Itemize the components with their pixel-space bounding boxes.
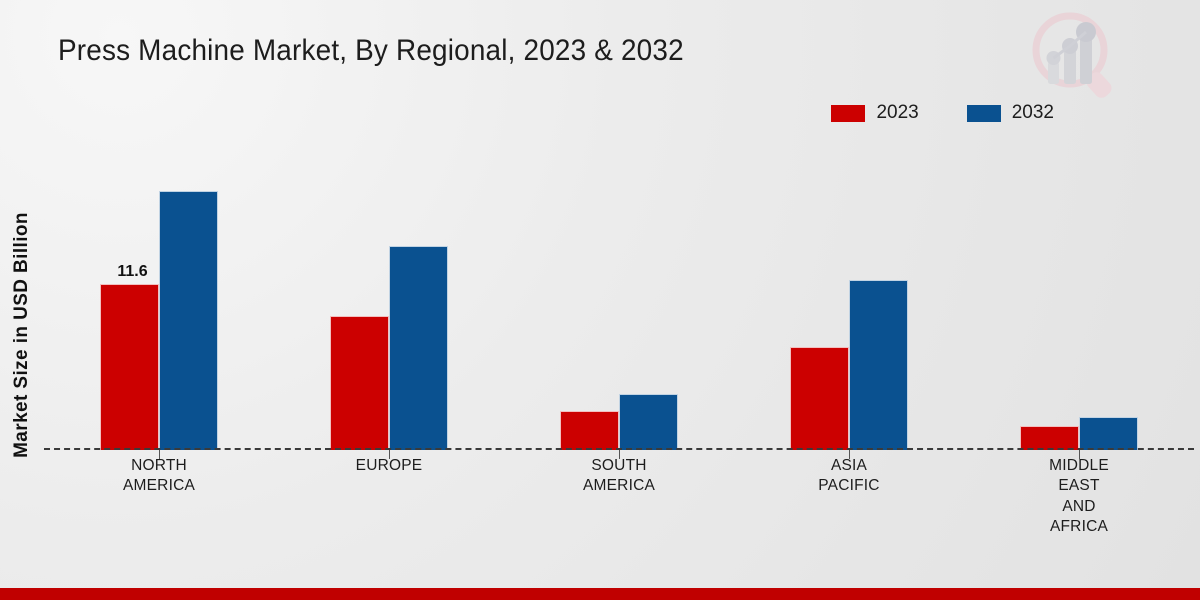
category-label-line: AMERICA	[44, 476, 274, 496]
category-label-line: ASIA	[734, 456, 964, 476]
bar-group	[274, 150, 504, 450]
bar-2023[interactable]	[790, 347, 849, 450]
x-axis-category-label: NORTHAMERICA	[44, 456, 274, 556]
category-label-line: SOUTH	[504, 456, 734, 476]
bar-2023[interactable]	[1020, 426, 1079, 450]
page-title: Press Machine Market, By Regional, 2023 …	[58, 34, 684, 68]
category-label-line: AMERICA	[504, 476, 734, 496]
footer-accent-bar	[0, 588, 1200, 600]
magnifier-bar-chart-logo-icon	[1022, 6, 1126, 102]
legend-label-2032: 2032	[1012, 102, 1054, 124]
legend-item-2023[interactable]: 2023	[831, 102, 918, 124]
bar-2032[interactable]	[389, 246, 448, 450]
category-label-line: EUROPE	[274, 456, 504, 476]
category-label-line: PACIFIC	[734, 476, 964, 496]
plot-area: 11.6	[44, 150, 1194, 450]
category-label-line: EAST	[964, 476, 1194, 496]
bar-pair: 11.6	[100, 191, 218, 450]
chart-legend: 2023 2032	[831, 102, 1054, 124]
bar-pair	[330, 246, 448, 450]
legend-swatch-red-icon	[831, 105, 865, 122]
bar-2032[interactable]	[619, 394, 678, 450]
bar-group	[964, 150, 1194, 450]
x-axis-category-label: EUROPE	[274, 456, 504, 556]
bar-groups: 11.6	[44, 150, 1194, 450]
bar-pair	[790, 280, 908, 450]
x-axis-category-label: ASIAPACIFIC	[734, 456, 964, 556]
bar-2023[interactable]: 11.6	[100, 284, 159, 450]
bar-2032[interactable]	[849, 280, 908, 450]
y-axis-title: Market Size in USD Billion	[0, 160, 44, 510]
bar-2023[interactable]	[560, 411, 619, 450]
bar-pair	[560, 394, 678, 450]
legend-item-2032[interactable]: 2032	[967, 102, 1054, 124]
category-label-line: NORTH	[44, 456, 274, 476]
bar-2032[interactable]	[1079, 417, 1138, 450]
bar-2023[interactable]	[330, 316, 389, 450]
category-label-line: AND	[964, 497, 1194, 517]
bar-group: 11.6	[44, 150, 274, 450]
x-axis-category-label: SOUTHAMERICA	[504, 456, 734, 556]
bar-pair	[1020, 417, 1138, 450]
x-axis-baseline	[44, 448, 1194, 450]
legend-label-2023: 2023	[876, 102, 918, 124]
category-label-line: MIDDLE	[964, 456, 1194, 476]
bar-value-label: 11.6	[117, 263, 147, 281]
y-axis-title-text: Market Size in USD Billion	[11, 212, 33, 458]
bar-group	[734, 150, 964, 450]
category-label-line: AFRICA	[964, 517, 1194, 537]
legend-swatch-blue-icon	[967, 105, 1001, 122]
x-axis-category-label: MIDDLEEASTANDAFRICA	[964, 456, 1194, 556]
bar-2032[interactable]	[159, 191, 218, 450]
chart-page: Press Machine Market, By Regional, 2023 …	[0, 0, 1200, 600]
x-axis-category-labels: NORTHAMERICAEUROPESOUTHAMERICAASIAPACIFI…	[44, 456, 1194, 556]
bar-group	[504, 150, 734, 450]
